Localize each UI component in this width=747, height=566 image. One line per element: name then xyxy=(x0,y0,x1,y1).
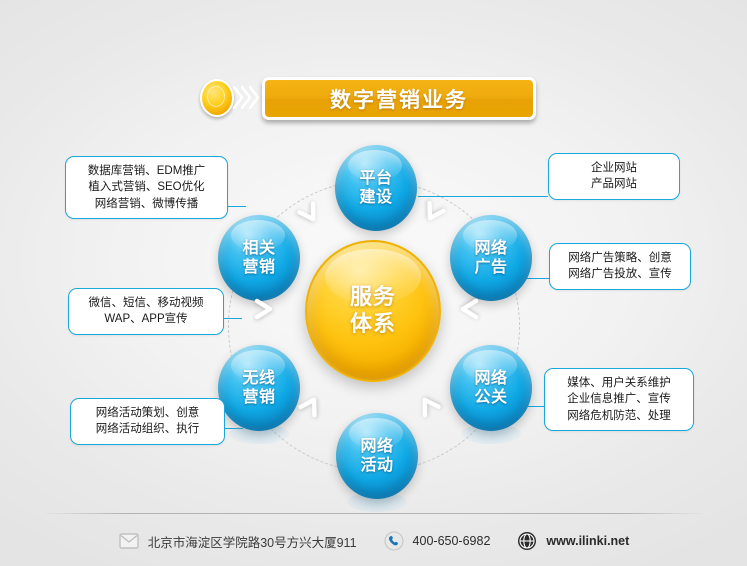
node-related-marketing[interactable]: 相关 营销 xyxy=(218,215,300,301)
diagram-canvas: 数字营销业务 服务 体系 平台 建设 网络 广告 网络 公关 网络 活动 无线 … xyxy=(0,0,747,566)
node-label-online-activity: 网络 活动 xyxy=(360,437,393,475)
footer: 北京市海淀区学院路30号方兴大厦911 400-650-6982 www xyxy=(0,521,747,561)
node-label-platform-construction: 平台 建设 xyxy=(359,169,392,207)
node-online-pr[interactable]: 网络 公关 xyxy=(450,345,532,431)
node-online-activity[interactable]: 网络 活动 xyxy=(336,413,418,499)
node-label-wireless-marketing: 无线 营销 xyxy=(242,369,275,407)
double-chevron-right-icon-3 xyxy=(249,86,260,109)
connector-line-wireless xyxy=(224,318,242,319)
node-online-advertising[interactable]: 网络 广告 xyxy=(450,215,532,301)
footer-website-text: www.ilinki.net xyxy=(546,534,629,548)
connector-line-related xyxy=(228,206,246,207)
connector-line-activity xyxy=(225,428,243,429)
node-label-related-marketing: 相关 营销 xyxy=(242,239,275,277)
callout-wireless-marketing: 微信、短信、移动视频 WAP、APP宣传 xyxy=(68,288,224,335)
center-node-service-system[interactable]: 服务 体系 xyxy=(305,240,441,382)
footer-address-item: 北京市海淀区学院路30号方兴大厦911 xyxy=(118,530,357,552)
callout-online-pr: 媒体、用户关系维护 企业信息推广、宣传 网络危机防范、处理 xyxy=(544,368,694,431)
mail-envelope-icon xyxy=(118,530,140,552)
gold-coin-icon xyxy=(200,79,234,117)
callout-platform-construction: 企业网站 产品网站 xyxy=(548,153,680,200)
connector-line-platform xyxy=(418,196,548,197)
footer-website-item[interactable]: www.ilinki.net xyxy=(516,530,629,552)
callout-online-activity: 网络活动策划、创意 网络活动组织、执行 xyxy=(70,398,225,445)
header-banner: 数字营销业务 xyxy=(200,77,536,120)
chevron-arrow-icon-3 xyxy=(456,296,482,322)
footer-divider xyxy=(42,513,705,514)
globe-icon xyxy=(516,530,538,552)
center-node-label: 服务 体系 xyxy=(350,284,396,338)
footer-phone-item: 400-650-6982 xyxy=(383,530,491,552)
page-title: 数字营销业务 xyxy=(330,84,468,114)
node-wireless-marketing[interactable]: 无线 营销 xyxy=(218,345,300,431)
telephone-icon xyxy=(383,530,405,552)
chevron-arrow-icon-6 xyxy=(251,296,277,322)
footer-address-text: 北京市海淀区学院路30号方兴大厦911 xyxy=(148,532,357,551)
node-platform-construction[interactable]: 平台 建设 xyxy=(335,145,417,231)
footer-phone-text: 400-650-6982 xyxy=(413,534,491,548)
callout-online-advertising: 网络广告策略、创意 网络广告投放、宣传 xyxy=(549,243,691,290)
header-banner-bar: 数字营销业务 xyxy=(262,77,536,120)
callout-related-marketing: 数据库营销、EDM推广 植入式营销、SEO优化 网络营销、微博传播 xyxy=(65,156,228,219)
node-label-online-advertising: 网络 广告 xyxy=(474,239,507,277)
node-label-online-pr: 网络 公关 xyxy=(474,369,507,407)
